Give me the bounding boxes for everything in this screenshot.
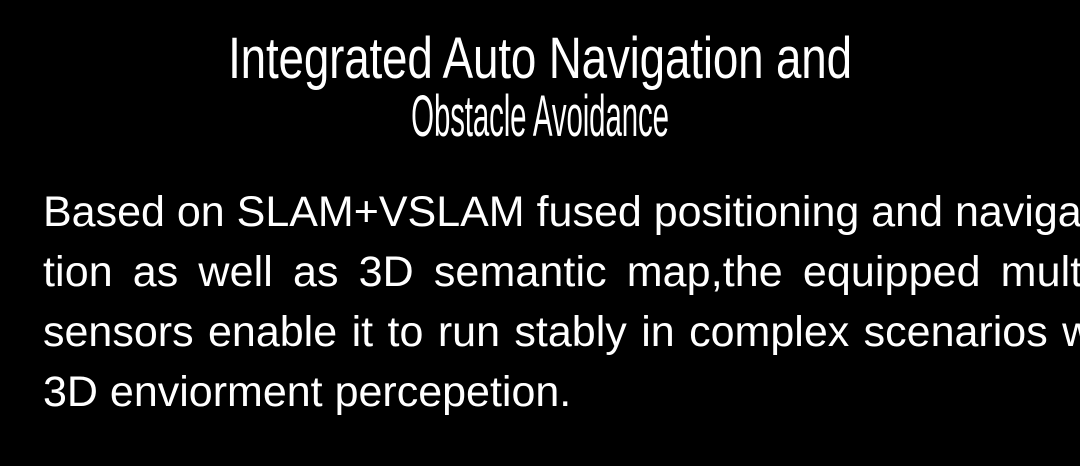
body-line-3: sensors enable it to run stably in compl… [43,302,1038,362]
slide-root: Integrated Auto Navigation and Obstacle … [0,0,1080,466]
page-title-line-2: Obstacle Avoidance [266,88,814,146]
body-line-2: tion as well as 3D semantic map,the equi… [43,242,1038,302]
body-paragraph: Based on SLAM+VSLAM fused positioning an… [43,182,1038,422]
body-line-1: Based on SLAM+VSLAM fused positioning an… [43,182,1038,242]
page-title: Integrated Auto Navigation and Obstacle … [0,30,1080,146]
page-title-line-1: Integrated Auto Navigation and [114,30,966,88]
body-line-4: 3D enviorment percepetion. [43,362,1038,422]
